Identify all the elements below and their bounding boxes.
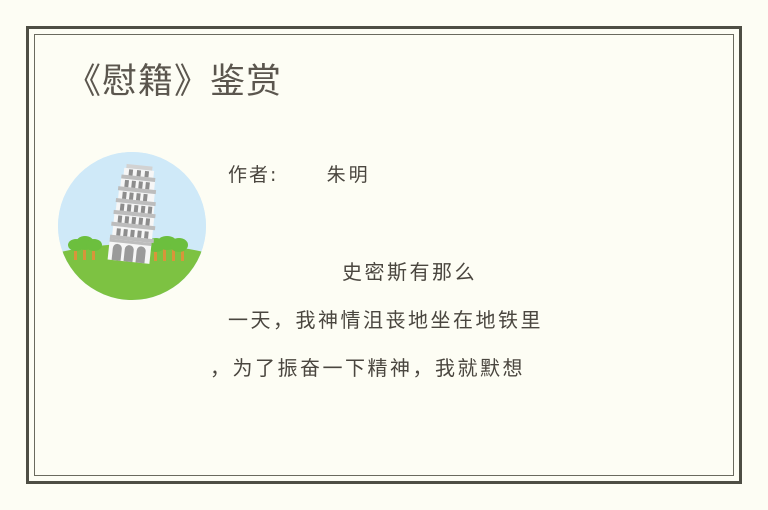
- body-text: 史密斯有那么 一天，我神情沮丧地坐在地铁里 ，为了振奋一下精神，我就默想: [228, 248, 668, 392]
- body-line: ，为了振奋一下精神，我就默想: [210, 344, 668, 392]
- byline: 作者: 朱明: [228, 160, 668, 190]
- text-column: 作者: 朱明 史密斯有那么 一天，我神情沮丧地坐在地铁里 ，为了振奋一下精神，我…: [228, 160, 668, 392]
- page-title: 《慰籍》鉴赏: [66, 58, 282, 106]
- body-line: 史密斯有那么: [228, 248, 668, 296]
- body-line: 一天，我神情沮丧地坐在地铁里: [228, 296, 668, 344]
- author-name: 朱明: [327, 164, 371, 186]
- article-card: 《慰籍》鉴赏: [0, 0, 768, 510]
- byline-spacer: [278, 164, 326, 186]
- pisa-illustration-svg: [58, 152, 206, 300]
- byline-label: 作者:: [228, 164, 278, 186]
- leaning-tower-of-pisa-icon: [58, 152, 206, 300]
